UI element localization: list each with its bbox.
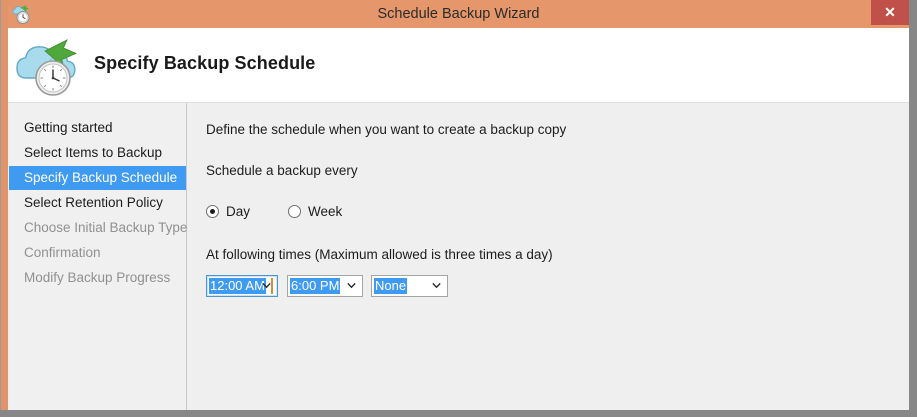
time-select-3[interactable]: None bbox=[371, 275, 448, 297]
time-select-3-value: None bbox=[374, 278, 407, 294]
sidebar-item-choose-initial-backup-type: Choose Initial Backup Type bbox=[9, 216, 186, 240]
radio-day-label: Day bbox=[226, 203, 250, 221]
window-title: Schedule Backup Wizard bbox=[0, 0, 917, 28]
time-select-2[interactable]: 6:00 PM bbox=[287, 275, 363, 297]
close-button[interactable]: ✕ bbox=[871, 0, 909, 25]
radio-week-label: Week bbox=[308, 203, 342, 221]
window-border-right bbox=[909, 0, 917, 412]
chevron-down-icon bbox=[262, 281, 271, 290]
sidebar-item-select-retention-policy[interactable]: Select Retention Policy bbox=[9, 191, 186, 215]
sidebar-item-confirmation: Confirmation bbox=[9, 241, 186, 265]
times-label: At following times (Maximum allowed is t… bbox=[206, 247, 553, 262]
sidebar-item-modify-backup-progress: Modify Backup Progress bbox=[9, 266, 186, 290]
time-select-2-value: 6:00 PM bbox=[290, 278, 340, 294]
radio-day-indicator bbox=[206, 205, 219, 218]
radio-week-indicator bbox=[288, 205, 301, 218]
lead-description: Define the schedule when you want to cre… bbox=[206, 122, 566, 137]
time-select-1[interactable]: 12:00 AM bbox=[206, 275, 278, 297]
wizard-steps-sidebar: Getting started Select Items to Backup S… bbox=[9, 103, 187, 410]
sidebar-item-getting-started[interactable]: Getting started bbox=[9, 116, 186, 140]
chevron-down-icon bbox=[432, 281, 441, 290]
schedule-backup-wizard-window: Schedule Backup Wizard ✕ bbox=[0, 0, 917, 417]
sidebar-item-specify-backup-schedule[interactable]: Specify Backup Schedule bbox=[9, 166, 186, 190]
text-cursor bbox=[271, 278, 273, 294]
frequency-label: Schedule a backup every bbox=[206, 163, 358, 178]
title-bar: Schedule Backup Wizard ✕ bbox=[0, 0, 917, 28]
wizard-header: Specify Backup Schedule bbox=[8, 28, 909, 103]
wizard-content-panel: Define the schedule when you want to cre… bbox=[188, 103, 909, 410]
close-icon: ✕ bbox=[871, 0, 909, 25]
page-title: Specify Backup Schedule bbox=[94, 53, 315, 74]
chevron-down-icon bbox=[347, 281, 356, 290]
cloud-backup-clock-icon bbox=[12, 36, 90, 98]
sidebar-item-select-items-to-backup[interactable]: Select Items to Backup bbox=[9, 141, 186, 165]
time-select-1-value: 12:00 AM bbox=[209, 278, 266, 294]
window-border-left bbox=[0, 0, 8, 412]
window-border-bottom bbox=[0, 410, 917, 417]
